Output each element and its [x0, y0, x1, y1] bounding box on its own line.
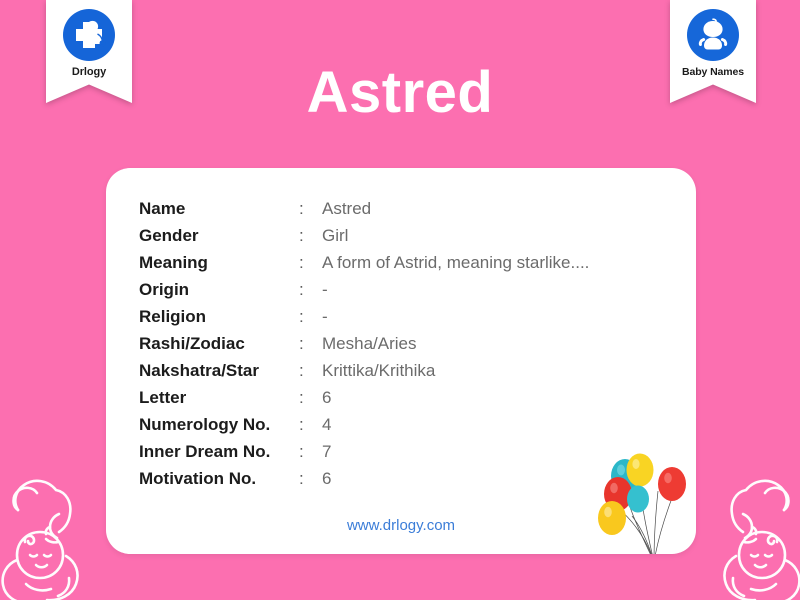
- row-separator: :: [299, 384, 321, 411]
- table-row: Inner Dream No. : 7: [139, 438, 589, 465]
- row-label: Letter: [139, 384, 299, 411]
- table-row: Gender : Girl: [139, 222, 589, 249]
- row-value: Mesha/Aries: [321, 330, 589, 357]
- row-label: Nakshatra/Star: [139, 357, 299, 384]
- row-value: A form of Astrid, meaning starlike....: [321, 249, 589, 276]
- row-separator: :: [299, 222, 321, 249]
- row-label: Meaning: [139, 249, 299, 276]
- row-separator: :: [299, 195, 321, 222]
- row-value: 7: [321, 438, 589, 465]
- mother-and-baby-outline-icon: [702, 460, 800, 600]
- drlogy-logo-circle: [63, 9, 115, 61]
- website-link[interactable]: www.drlogy.com: [106, 517, 696, 534]
- row-separator: :: [299, 276, 321, 303]
- table-row: Meaning : A form of Astrid, meaning star…: [139, 249, 589, 276]
- row-value: 4: [321, 411, 589, 438]
- page-title: Astred: [0, 64, 800, 122]
- balloon-bunch-icon: [592, 450, 696, 554]
- row-value: -: [321, 276, 589, 303]
- row-label: Motivation No.: [139, 465, 299, 492]
- name-details-card: Name : Astred Gender : Girl Meaning : A …: [106, 168, 696, 554]
- row-value: Krittika/Krithika: [321, 357, 589, 384]
- row-separator: :: [299, 330, 321, 357]
- drlogy-medical-cross-doctor-icon: [67, 13, 111, 57]
- table-row: Nakshatra/Star : Krittika/Krithika: [139, 357, 589, 384]
- row-separator: :: [299, 249, 321, 276]
- baby-silhouette-icon: [691, 13, 735, 57]
- row-value: -: [321, 303, 589, 330]
- table-row: Numerology No. : 4: [139, 411, 589, 438]
- row-label: Numerology No.: [139, 411, 299, 438]
- table-row: Religion : -: [139, 303, 589, 330]
- name-details-table: Name : Astred Gender : Girl Meaning : A …: [139, 195, 589, 492]
- row-separator: :: [299, 438, 321, 465]
- mother-and-baby-outline-icon: [0, 460, 100, 600]
- row-value: Astred: [321, 195, 589, 222]
- row-value: Girl: [321, 222, 589, 249]
- row-label: Origin: [139, 276, 299, 303]
- table-row: Origin : -: [139, 276, 589, 303]
- row-label: Inner Dream No.: [139, 438, 299, 465]
- table-row: Rashi/Zodiac : Mesha/Aries: [139, 330, 589, 357]
- row-separator: :: [299, 357, 321, 384]
- row-value: 6: [321, 465, 589, 492]
- row-separator: :: [299, 303, 321, 330]
- row-separator: :: [299, 411, 321, 438]
- table-row: Motivation No. : 6: [139, 465, 589, 492]
- row-separator: :: [299, 465, 321, 492]
- row-label: Rashi/Zodiac: [139, 330, 299, 357]
- row-label: Name: [139, 195, 299, 222]
- row-value: 6: [321, 384, 589, 411]
- table-row: Name : Astred: [139, 195, 589, 222]
- table-row: Letter : 6: [139, 384, 589, 411]
- row-label: Gender: [139, 222, 299, 249]
- baby-names-logo-circle: [687, 9, 739, 61]
- row-label: Religion: [139, 303, 299, 330]
